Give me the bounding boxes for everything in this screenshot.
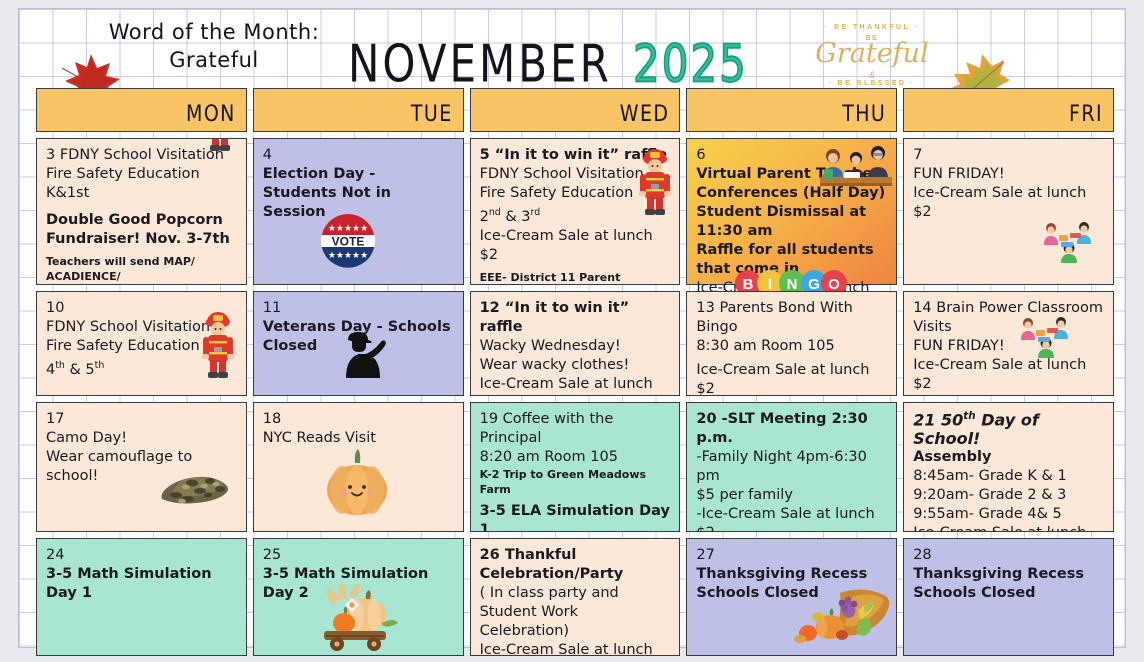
year-title: 2025 (633, 34, 748, 94)
day-cell-14[interactable]: 14 Brain Power ClassroomVisitsFUN FRIDAY… (903, 291, 1114, 396)
day-cell-27[interactable]: 27Thanksgiving RecessSchools Closed (686, 538, 897, 656)
word-of-the-month: Word of the Month: Grateful (84, 18, 344, 74)
word-of-month-value: Grateful (84, 46, 344, 74)
grateful-stamp-icon: · BE THANKFUL · BE Grateful & · BE BLESS… (813, 22, 931, 98)
day-event-line: Ice-Cream Sale at lunch $2 (913, 524, 1105, 532)
calendar-grid: MON TUE WED THU FRI 3 FDNY School Visita… (36, 88, 1114, 662)
day-cell-17[interactable]: 17Camo Day!Wear camouflage toschool! (36, 402, 247, 532)
day-event-line: Attendance Reports Home (46, 284, 238, 285)
day-event-line: Raffle for all students that come in (696, 241, 888, 279)
day-event-line: FUN FRIDAY! (913, 165, 1105, 184)
day-cell-21[interactable]: 21 50th Day of School!Assembly8:45am- Gr… (903, 402, 1114, 532)
calendar-week-row: 243-5 Math Simulation Day 1253-5 Math Si… (36, 538, 1114, 656)
day-event-line: Student Dismissal at 11:30 am (696, 203, 888, 241)
day-cell-13[interactable]: 13 Parents Bond With Bingo8:30 am Room 1… (686, 291, 897, 396)
day-event-line: 3-5 Math Simulation Day 2 (263, 565, 455, 603)
stamp-arc-top: · BE THANKFUL · (813, 24, 931, 31)
weekday-label: MON (186, 102, 236, 127)
day-event-line: school! (46, 467, 238, 486)
weekday-label: THU (842, 102, 886, 127)
day-event-line: Camo Day! (46, 429, 238, 448)
weekday-header-thu: THU (686, 88, 897, 132)
day-cell-25[interactable]: 253-5 Math Simulation Day 2 (253, 538, 464, 656)
day-event-line: 10 (46, 299, 238, 318)
day-event-line: 25 (263, 546, 455, 565)
day-event-line: Veterans Day - Schools (263, 318, 455, 337)
day-event-line: Fire Safety Education (480, 184, 672, 203)
day-cell-28[interactable]: 28Thanksgiving RecessSchools Closed (903, 538, 1114, 656)
day-event-line: Teachers will send MAP/ ACADIENCE/ (46, 254, 238, 284)
day-event-line: Ice-Cream Sale at lunch $2 (480, 227, 672, 265)
weekday-header-fri: FRI (903, 88, 1114, 132)
day-event-line: 3 FDNY School Visitation (46, 146, 238, 165)
day-cell-6[interactable]: 6Virtual Parent TeacherConferences (Half… (686, 138, 897, 285)
svg-text:VOTE: VOTE (331, 235, 364, 249)
day-event-line: 28 (913, 546, 1105, 565)
day-event-line: 3-5 Math Simulation Day 1 (46, 565, 238, 603)
day-event-line: 6 (696, 146, 888, 165)
day-event-line: 9:20am- Grade 2 & 3 (913, 486, 1105, 505)
spacer (46, 203, 238, 211)
day-event-line: Schools Closed (913, 584, 1105, 603)
day-event-line: 18 (263, 410, 455, 429)
day-event-line: Ice-Cream Sale at lunch $2 (480, 375, 672, 396)
day-event-line: 3-5 ELA Simulation Day 1 (480, 502, 672, 532)
day-event-line: Thanksgiving Recess (913, 565, 1105, 584)
svg-text:★★★★★: ★★★★★ (328, 250, 368, 260)
day-event-line: 26 Thankful Celebration/Party (480, 546, 672, 584)
day-cell-26[interactable]: 26 Thankful Celebration/Party( In class … (470, 538, 681, 656)
day-cell-19[interactable]: 19 Coffee with the Principal8:20 am Room… (470, 402, 681, 532)
day-cell-7[interactable]: 7FUN FRIDAY!Ice-Cream Sale at lunch$2 (903, 138, 1114, 285)
stamp-arc-bottom: · BE BLESSED · (813, 80, 931, 87)
day-event-line: Students Not in Session (263, 184, 455, 222)
day-event-line: 4th & 5th (46, 356, 238, 380)
pumpkin-icon (318, 445, 396, 517)
day-event-line: Closed (263, 337, 455, 356)
day-event-line: 19 Coffee with the Principal (480, 410, 672, 448)
day-event-line: 17 (46, 410, 238, 429)
day-event-line: 13 Parents Bond With Bingo (696, 299, 888, 337)
day-cell-20[interactable]: 20 -SLT Meeting 2:30 p.m.-Family Night 4… (686, 402, 897, 532)
day-cell-18[interactable]: 18NYC Reads Visit (253, 402, 464, 532)
day-event-line: 20 -SLT Meeting 2:30 p.m. (696, 410, 888, 448)
day-event-line: 5 “In it to win it” raffle (480, 146, 672, 165)
stamp-main: Grateful (813, 38, 931, 69)
day-event-line: 8:30 am Room 105 (696, 337, 888, 356)
day-event-line: Wear camouflage to (46, 448, 238, 467)
svg-text:★★★★★: ★★★★★ (328, 223, 368, 233)
weekday-header-mon: MON (36, 88, 247, 132)
day-event-line: FDNY School Visitation (46, 318, 238, 337)
day-event-line: Fire Safety Education (46, 337, 238, 356)
day-event-line: Ice-Cream Sale at lunch $2 (913, 356, 1105, 394)
day-event-line: 4 (263, 146, 455, 165)
day-cell-4[interactable]: 4Election Day -Students Not in Session V… (253, 138, 464, 285)
day-event-line: 14 Brain Power Classroom (913, 299, 1105, 318)
day-event-line: Wear wacky clothes! (480, 356, 672, 375)
weekday-label: FRI (1069, 102, 1103, 127)
month-title: NOVEMBER (348, 34, 612, 94)
day-event-line: Conferences (Half Day) (696, 184, 888, 203)
calendar-week-row: 10FDNY School VisitationFire Safety Educ… (36, 291, 1114, 396)
day-event-line: Fire Safety Education K&1st (46, 165, 238, 203)
day-event-line: ( In class party and Student Work (480, 584, 672, 622)
weekday-header-tue: TUE (253, 88, 464, 132)
day-event-line: FUN FRIDAY! (913, 337, 1105, 356)
day-event-line: $5 per family (696, 486, 888, 505)
calendar-banner: Word of the Month: Grateful NOVEMBER 202… (18, 8, 1126, 90)
day-event-line: 24 (46, 546, 238, 565)
day-cell-5[interactable]: 5 “In it to win it” raffleFDNY School Vi… (470, 138, 681, 285)
day-event-line: Fundraiser! Nov. 3-7th (46, 230, 238, 249)
day-event-line: $2 (913, 203, 1105, 222)
weekday-label: WED (620, 102, 670, 127)
day-event-line: Ice-Cream Sale at lunch $2 (696, 361, 888, 396)
day-event-line: 8:20 am Room 105 (480, 448, 672, 467)
day-event-line: 9:55am- Grade 4& 5 (913, 505, 1105, 524)
day-event-line: Double Good Popcorn (46, 211, 238, 230)
day-event-line: 27 (696, 546, 888, 565)
day-event-line: Thanksgiving Recess (696, 565, 888, 584)
day-event-line: 8:45am- Grade K & 1 (913, 467, 1105, 486)
day-event-line: Ice-Cream Sale at lunch (913, 184, 1105, 203)
calendar-page: Word of the Month: Grateful NOVEMBER 202… (0, 0, 1144, 659)
weekday-header-row: MON TUE WED THU FRI (36, 88, 1114, 132)
day-cell-24[interactable]: 243-5 Math Simulation Day 1 (36, 538, 247, 656)
day-event-line: Assembly (913, 448, 1105, 467)
day-event-line: Schools Closed (696, 584, 888, 603)
day-event-line: 12 “In it to win it” raffle (480, 299, 672, 337)
day-event-line: 2nd & 3rd (480, 203, 672, 227)
day-event-line: Wacky Wednesday! (480, 337, 672, 356)
day-cell-10[interactable]: 10FDNY School VisitationFire Safety Educ… (36, 291, 247, 396)
day-event-line: 11 (263, 299, 455, 318)
weekday-label: TUE (411, 102, 453, 127)
calendar-week-row: 3 FDNY School VisitationFire Safety Educ… (36, 138, 1114, 285)
word-of-month-label: Word of the Month: (109, 20, 320, 44)
day-cell-11[interactable]: 11Veterans Day - SchoolsClosed (253, 291, 464, 396)
weekday-header-wed: WED (470, 88, 681, 132)
day-event-line: K-2 Trip to Green Meadows Farm (480, 467, 672, 497)
day-event-line: Election Day - (263, 165, 455, 184)
day-event-line: Virtual Parent Teacher (696, 165, 888, 184)
calendar-week-row: 17Camo Day!Wear camouflage toschool! 18N… (36, 402, 1114, 532)
day-event-line: 21 50th Day of School! (913, 410, 1105, 448)
day-cell-12[interactable]: 12 “In it to win it” raffleWacky Wednesd… (470, 291, 681, 396)
day-event-line: NYC Reads Visit (263, 429, 455, 448)
day-event-line: Celebration) (480, 622, 672, 641)
stamp-amp: & (813, 70, 931, 80)
day-event-line: 7 (913, 146, 1105, 165)
day-event-line: FDNY School Visitation (480, 165, 672, 184)
day-event-line: -Family Night 4pm-6:30 pm (696, 448, 888, 486)
day-event-line: -Ice-Cream Sale at lunch $2 (696, 505, 888, 532)
day-cell-3[interactable]: 3 FDNY School VisitationFire Safety Educ… (36, 138, 247, 285)
day-event-line: EEE- District 11 Parent Meeting at 6 p.m… (480, 270, 672, 285)
day-event-line: Visits (913, 318, 1105, 337)
day-event-line: Ice-Cream Sale at lunch $2 (480, 641, 672, 656)
